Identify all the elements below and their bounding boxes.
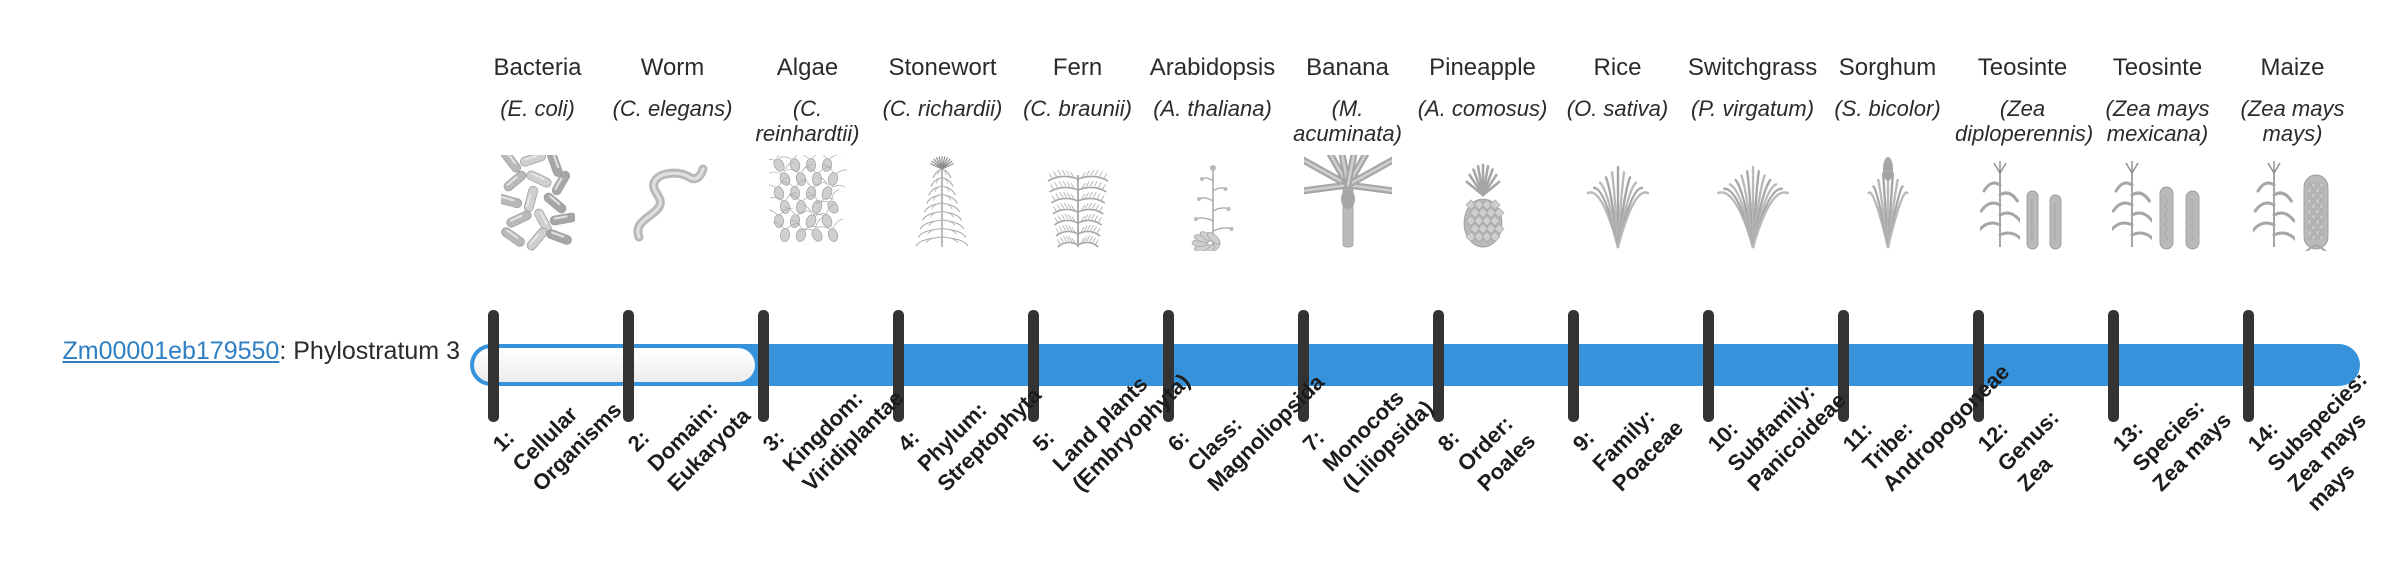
algae-icon bbox=[740, 155, 875, 251]
species-scientific-name: (A. thaliana) bbox=[1145, 97, 1280, 151]
species-column-banana: Banana(M. acuminata) bbox=[1280, 55, 1415, 251]
species-common-name: Worm bbox=[605, 55, 740, 85]
gene-id-link[interactable]: Zm00001eb179550 bbox=[62, 337, 279, 365]
species-common-name: Arabidopsis bbox=[1145, 55, 1280, 85]
phylostratum-tick-10[interactable] bbox=[1703, 310, 1714, 422]
species-scientific-name: (M. acuminata) bbox=[1280, 97, 1415, 151]
maize-icon bbox=[2225, 155, 2360, 251]
species-column-maize: Maize(Zea mays mays) bbox=[2225, 55, 2360, 251]
species-common-name: Stonewort bbox=[875, 55, 1010, 85]
species-column-switchgrass: Switchgrass(P. virgatum) bbox=[1685, 55, 1820, 251]
species-scientific-name: (Zea diploperennis) bbox=[1955, 97, 2090, 151]
species-common-name: Teosinte bbox=[1955, 55, 2090, 85]
species-common-name: Bacteria bbox=[470, 55, 605, 85]
species-scientific-name: (C. elegans) bbox=[605, 97, 740, 151]
species-column-fern: Fern(C. braunii) bbox=[1010, 55, 1145, 251]
species-scientific-name: (Zea mays mexicana) bbox=[2090, 97, 2225, 151]
fern-icon bbox=[1010, 155, 1145, 251]
species-column-algae: Algae(C. reinhardtii) bbox=[740, 55, 875, 251]
species-column-pineapple: Pineapple(A. comosus) bbox=[1415, 55, 1550, 251]
worm-icon bbox=[605, 155, 740, 251]
species-column-sorghum: Sorghum(S. bicolor) bbox=[1820, 55, 1955, 251]
species-common-name: Banana bbox=[1280, 55, 1415, 85]
species-column-stonewort: Stonewort(C. richardii) bbox=[875, 55, 1010, 251]
bacteria-icon bbox=[470, 155, 605, 251]
species-column-rice: Rice(O. sativa) bbox=[1550, 55, 1685, 251]
gene-phylostratum-label: Zm00001eb179550: Phylostratum 3 bbox=[40, 337, 460, 366]
phylostratum-label-8: 8: Order: Poales bbox=[1432, 388, 1542, 498]
phylostratum-progress-bar[interactable] bbox=[470, 344, 2360, 386]
species-scientific-name: (C. braunii) bbox=[1010, 97, 1145, 151]
switchgrass-icon bbox=[1685, 155, 1820, 251]
gene-phylostratum-value: Phylostratum 3 bbox=[293, 337, 460, 365]
species-scientific-name: (Zea mays mays) bbox=[2225, 97, 2360, 151]
banana-icon bbox=[1280, 155, 1415, 251]
progress-bar-unfilled-region bbox=[474, 348, 755, 382]
species-header-row: Bacteria(E. coli) bbox=[470, 55, 2370, 300]
phylostratum-tick-3[interactable] bbox=[758, 310, 769, 422]
stonewort-icon bbox=[875, 155, 1010, 251]
species-common-name: Maize bbox=[2225, 55, 2360, 85]
species-scientific-name: (O. sativa) bbox=[1550, 97, 1685, 151]
species-common-name: Sorghum bbox=[1820, 55, 1955, 85]
rice-icon bbox=[1550, 155, 1685, 251]
sorghum-icon bbox=[1820, 155, 1955, 251]
species-column-arabidopsis: Arabidopsis(A. thaliana) bbox=[1145, 55, 1280, 251]
species-column-worm: Worm(C. elegans) bbox=[605, 55, 740, 251]
teosinte-mex-icon bbox=[2090, 155, 2225, 251]
pineapple-icon bbox=[1415, 155, 1550, 251]
phylostratum-tick-13[interactable] bbox=[2108, 310, 2119, 422]
species-common-name: Pineapple bbox=[1415, 55, 1550, 85]
species-scientific-name: (C. reinhardtii) bbox=[740, 97, 875, 151]
teosinte-diplo-icon bbox=[1955, 155, 2090, 251]
phylostratum-label-13: 13: Species: Zea mays bbox=[2107, 367, 2238, 498]
phylostratum-tick-8[interactable] bbox=[1433, 310, 1444, 422]
species-common-name: Teosinte bbox=[2090, 55, 2225, 85]
phylostratum-label-9: 9: Family: Poaceae bbox=[1567, 375, 1690, 498]
species-common-name: Switchgrass bbox=[1685, 55, 1820, 85]
species-common-name: Algae bbox=[740, 55, 875, 85]
species-scientific-name: (S. bicolor) bbox=[1820, 97, 1955, 151]
species-common-name: Fern bbox=[1010, 55, 1145, 85]
phylostratum-tick-9[interactable] bbox=[1568, 310, 1579, 422]
phylostratum-tick-2[interactable] bbox=[623, 310, 634, 422]
phylostratum-tick-1[interactable] bbox=[488, 310, 499, 422]
gene-label-separator: : bbox=[279, 337, 293, 365]
species-scientific-name: (C. richardii) bbox=[875, 97, 1010, 151]
species-column-bacteria: Bacteria(E. coli) bbox=[470, 55, 605, 251]
species-scientific-name: (P. virgatum) bbox=[1685, 97, 1820, 151]
species-column-teosinte: Teosinte(Zea mays mexicana) bbox=[2090, 55, 2225, 251]
phylostratigraphy-figure: Zm00001eb179550: Phylostratum 3 Bacteria… bbox=[0, 0, 2400, 580]
arabidopsis-icon bbox=[1145, 155, 1280, 251]
species-column-teosinte: Teosinte(Zea diploperennis) bbox=[1955, 55, 2090, 251]
species-common-name: Rice bbox=[1550, 55, 1685, 85]
phylostratum-tick-14[interactable] bbox=[2243, 310, 2254, 422]
species-scientific-name: (A. comosus) bbox=[1415, 97, 1550, 151]
species-scientific-name: (E. coli) bbox=[470, 97, 605, 151]
